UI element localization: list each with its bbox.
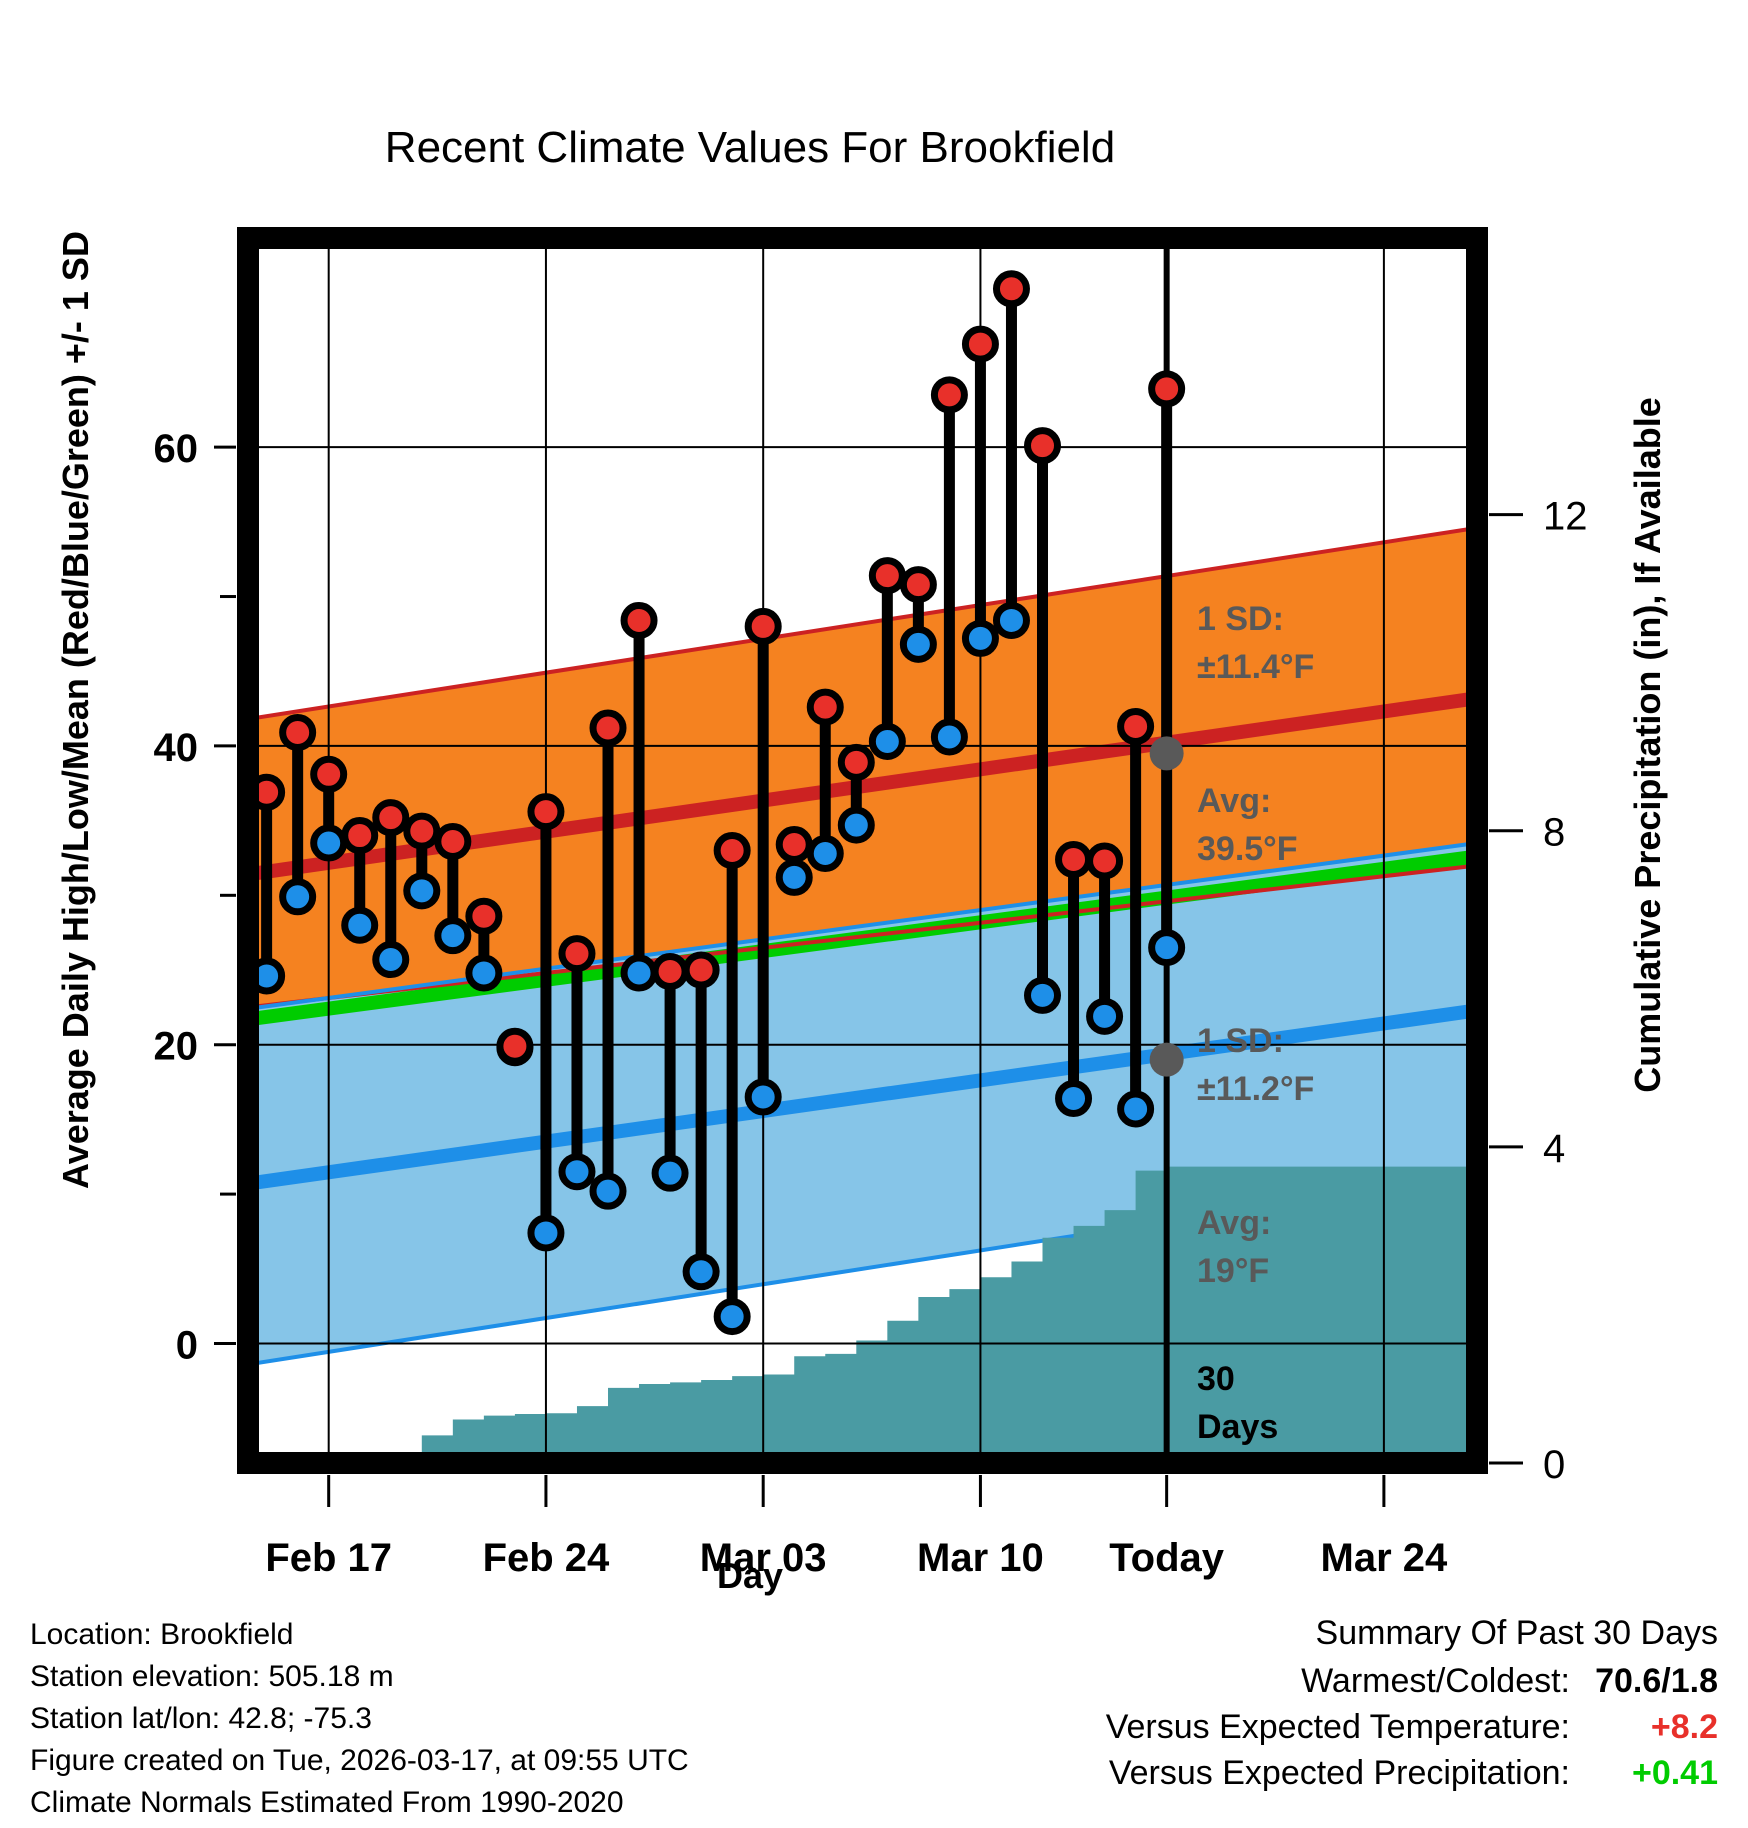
observed-high-marker <box>810 692 840 722</box>
observed-high-marker <box>407 816 437 846</box>
observed-high-marker <box>314 759 344 789</box>
observed-high-marker <box>283 717 313 747</box>
observed-high-marker <box>934 380 964 410</box>
observed-low-marker <box>655 1158 685 1188</box>
y-tick-label-right: 8 <box>1543 811 1565 855</box>
observed-high-marker <box>779 830 809 860</box>
y-tick-label-left: 0 <box>176 1323 198 1367</box>
x-axis-label: Day <box>717 1555 783 1596</box>
high-sd-line2: ±11.4°F <box>1197 648 1314 686</box>
high-avg-line2: 39.5°F <box>1197 830 1298 868</box>
x-tick-label: Mar 24 <box>1321 1536 1448 1580</box>
x-tick-label: Feb 24 <box>483 1536 610 1580</box>
low-sd-line2: ±11.2°F <box>1197 1070 1314 1108</box>
observed-low-marker <box>438 921 468 951</box>
footer-left-line: Location: Brookfield <box>30 1618 294 1651</box>
observed-low-marker <box>314 828 344 858</box>
observed-high-marker <box>500 1031 530 1061</box>
observed-low-marker <box>903 629 933 659</box>
observed-low-marker <box>593 1176 623 1206</box>
observed-high-marker <box>593 713 623 743</box>
observed-high-marker <box>717 836 747 866</box>
y-tick-label-left: 60 <box>154 427 199 471</box>
observed-low-marker <box>686 1257 716 1287</box>
today-avg-low-marker <box>1150 1043 1184 1077</box>
observed-high-marker <box>655 957 685 987</box>
observed-high-marker <box>686 955 716 985</box>
y-axis-label-left: Average Daily High/Low/Mean (Red/Blue/Gr… <box>55 231 96 1189</box>
observed-low-marker <box>841 810 871 840</box>
observed-low-marker <box>872 726 902 756</box>
days-window-line1: 30 <box>1197 1360 1235 1398</box>
observed-low-marker <box>531 1218 561 1248</box>
summary-row-label: Versus Expected Temperature: <box>1106 1708 1570 1746</box>
observed-low-marker <box>1059 1083 1089 1113</box>
observed-low-marker <box>1090 1001 1120 1031</box>
days-window-line2: Days <box>1197 1408 1278 1446</box>
observed-low-marker <box>717 1302 747 1332</box>
observed-high-marker <box>903 570 933 600</box>
observed-low-marker <box>407 876 437 906</box>
observed-high-marker <box>1152 374 1182 404</box>
footer-left-line: Station lat/lon: 42.8; -75.3 <box>30 1702 372 1735</box>
footer-left-line: Station elevation: 505.18 m <box>30 1660 394 1693</box>
observed-low-marker <box>469 958 499 988</box>
x-tick-label: Mar 10 <box>917 1536 1044 1580</box>
observed-low-marker <box>748 1082 778 1112</box>
observed-low-marker <box>624 958 654 988</box>
observed-low-marker <box>934 722 964 752</box>
summary-row-label: Warmest/Coldest: <box>1301 1662 1570 1700</box>
climate-figure: Recent Climate Values For Brookfield 1 S… <box>0 0 1748 1828</box>
observed-high-marker <box>1028 431 1058 461</box>
summary-row-value: +0.41 <box>1632 1754 1718 1792</box>
observed-low-marker <box>376 945 406 975</box>
observed-high-marker <box>748 611 778 641</box>
footer-left-line: Figure created on Tue, 2026-03-17, at 09… <box>30 1744 689 1777</box>
observed-high-marker <box>1090 846 1120 876</box>
observed-low-marker <box>996 605 1026 635</box>
summary-row-value: +8.2 <box>1651 1708 1718 1746</box>
observed-high-marker <box>469 901 499 931</box>
observed-high-marker <box>562 939 592 969</box>
observed-low-marker <box>779 862 809 892</box>
summary-row-label: Versus Expected Precipitation: <box>1109 1754 1570 1792</box>
x-tick-label: Feb 17 <box>265 1536 392 1580</box>
y-tick-label-left: 40 <box>154 726 199 770</box>
low-avg-line2: 19°F <box>1197 1252 1269 1290</box>
observed-high-marker <box>376 803 406 833</box>
summary-row-value: 70.6/1.8 <box>1595 1662 1718 1700</box>
y-tick-label-right: 12 <box>1543 495 1588 539</box>
footer-left-line: Climate Normals Estimated From 1990-2020 <box>30 1786 624 1819</box>
plot-area: 1 SD:±11.4°FAvg:39.5°F1 SD:±11.2°FAvg:19… <box>154 238 1588 1621</box>
y-tick-label-left: 20 <box>154 1025 199 1069</box>
y-tick-label-right: 0 <box>1543 1443 1565 1487</box>
observed-low-marker <box>283 882 313 912</box>
observed-high-marker <box>996 274 1026 304</box>
x-tick-label: Today <box>1109 1536 1225 1580</box>
observed-high-marker <box>965 329 995 359</box>
observed-high-marker <box>438 827 468 857</box>
observed-low-marker <box>1028 980 1058 1010</box>
observed-high-marker <box>531 797 561 827</box>
observed-low-marker <box>965 623 995 653</box>
observed-high-marker <box>1121 712 1151 742</box>
observed-low-marker <box>810 838 840 868</box>
observed-high-marker <box>1059 844 1089 874</box>
high-avg-line1: Avg: <box>1197 782 1271 820</box>
y-axis-label-right: Cumulative Precipitation (in), If Availa… <box>1627 397 1668 1092</box>
low-avg-line1: Avg: <box>1197 1204 1271 1242</box>
y-tick-label-right: 4 <box>1543 1127 1565 1171</box>
observed-high-marker <box>872 561 902 591</box>
chart-title: Recent Climate Values For Brookfield <box>385 123 1115 172</box>
observed-low-marker <box>1121 1094 1151 1124</box>
high-sd-line1: 1 SD: <box>1197 600 1284 638</box>
observed-high-marker <box>624 605 654 635</box>
today-avg-high-marker <box>1150 736 1184 770</box>
summary-heading: Summary Of Past 30 Days <box>1316 1614 1718 1652</box>
observed-low-marker <box>345 910 375 940</box>
observed-high-marker <box>841 747 871 777</box>
observed-low-marker <box>562 1157 592 1187</box>
observed-low-marker <box>1152 933 1182 963</box>
observed-high-marker <box>345 821 375 851</box>
low-sd-line1: 1 SD: <box>1197 1022 1284 1060</box>
